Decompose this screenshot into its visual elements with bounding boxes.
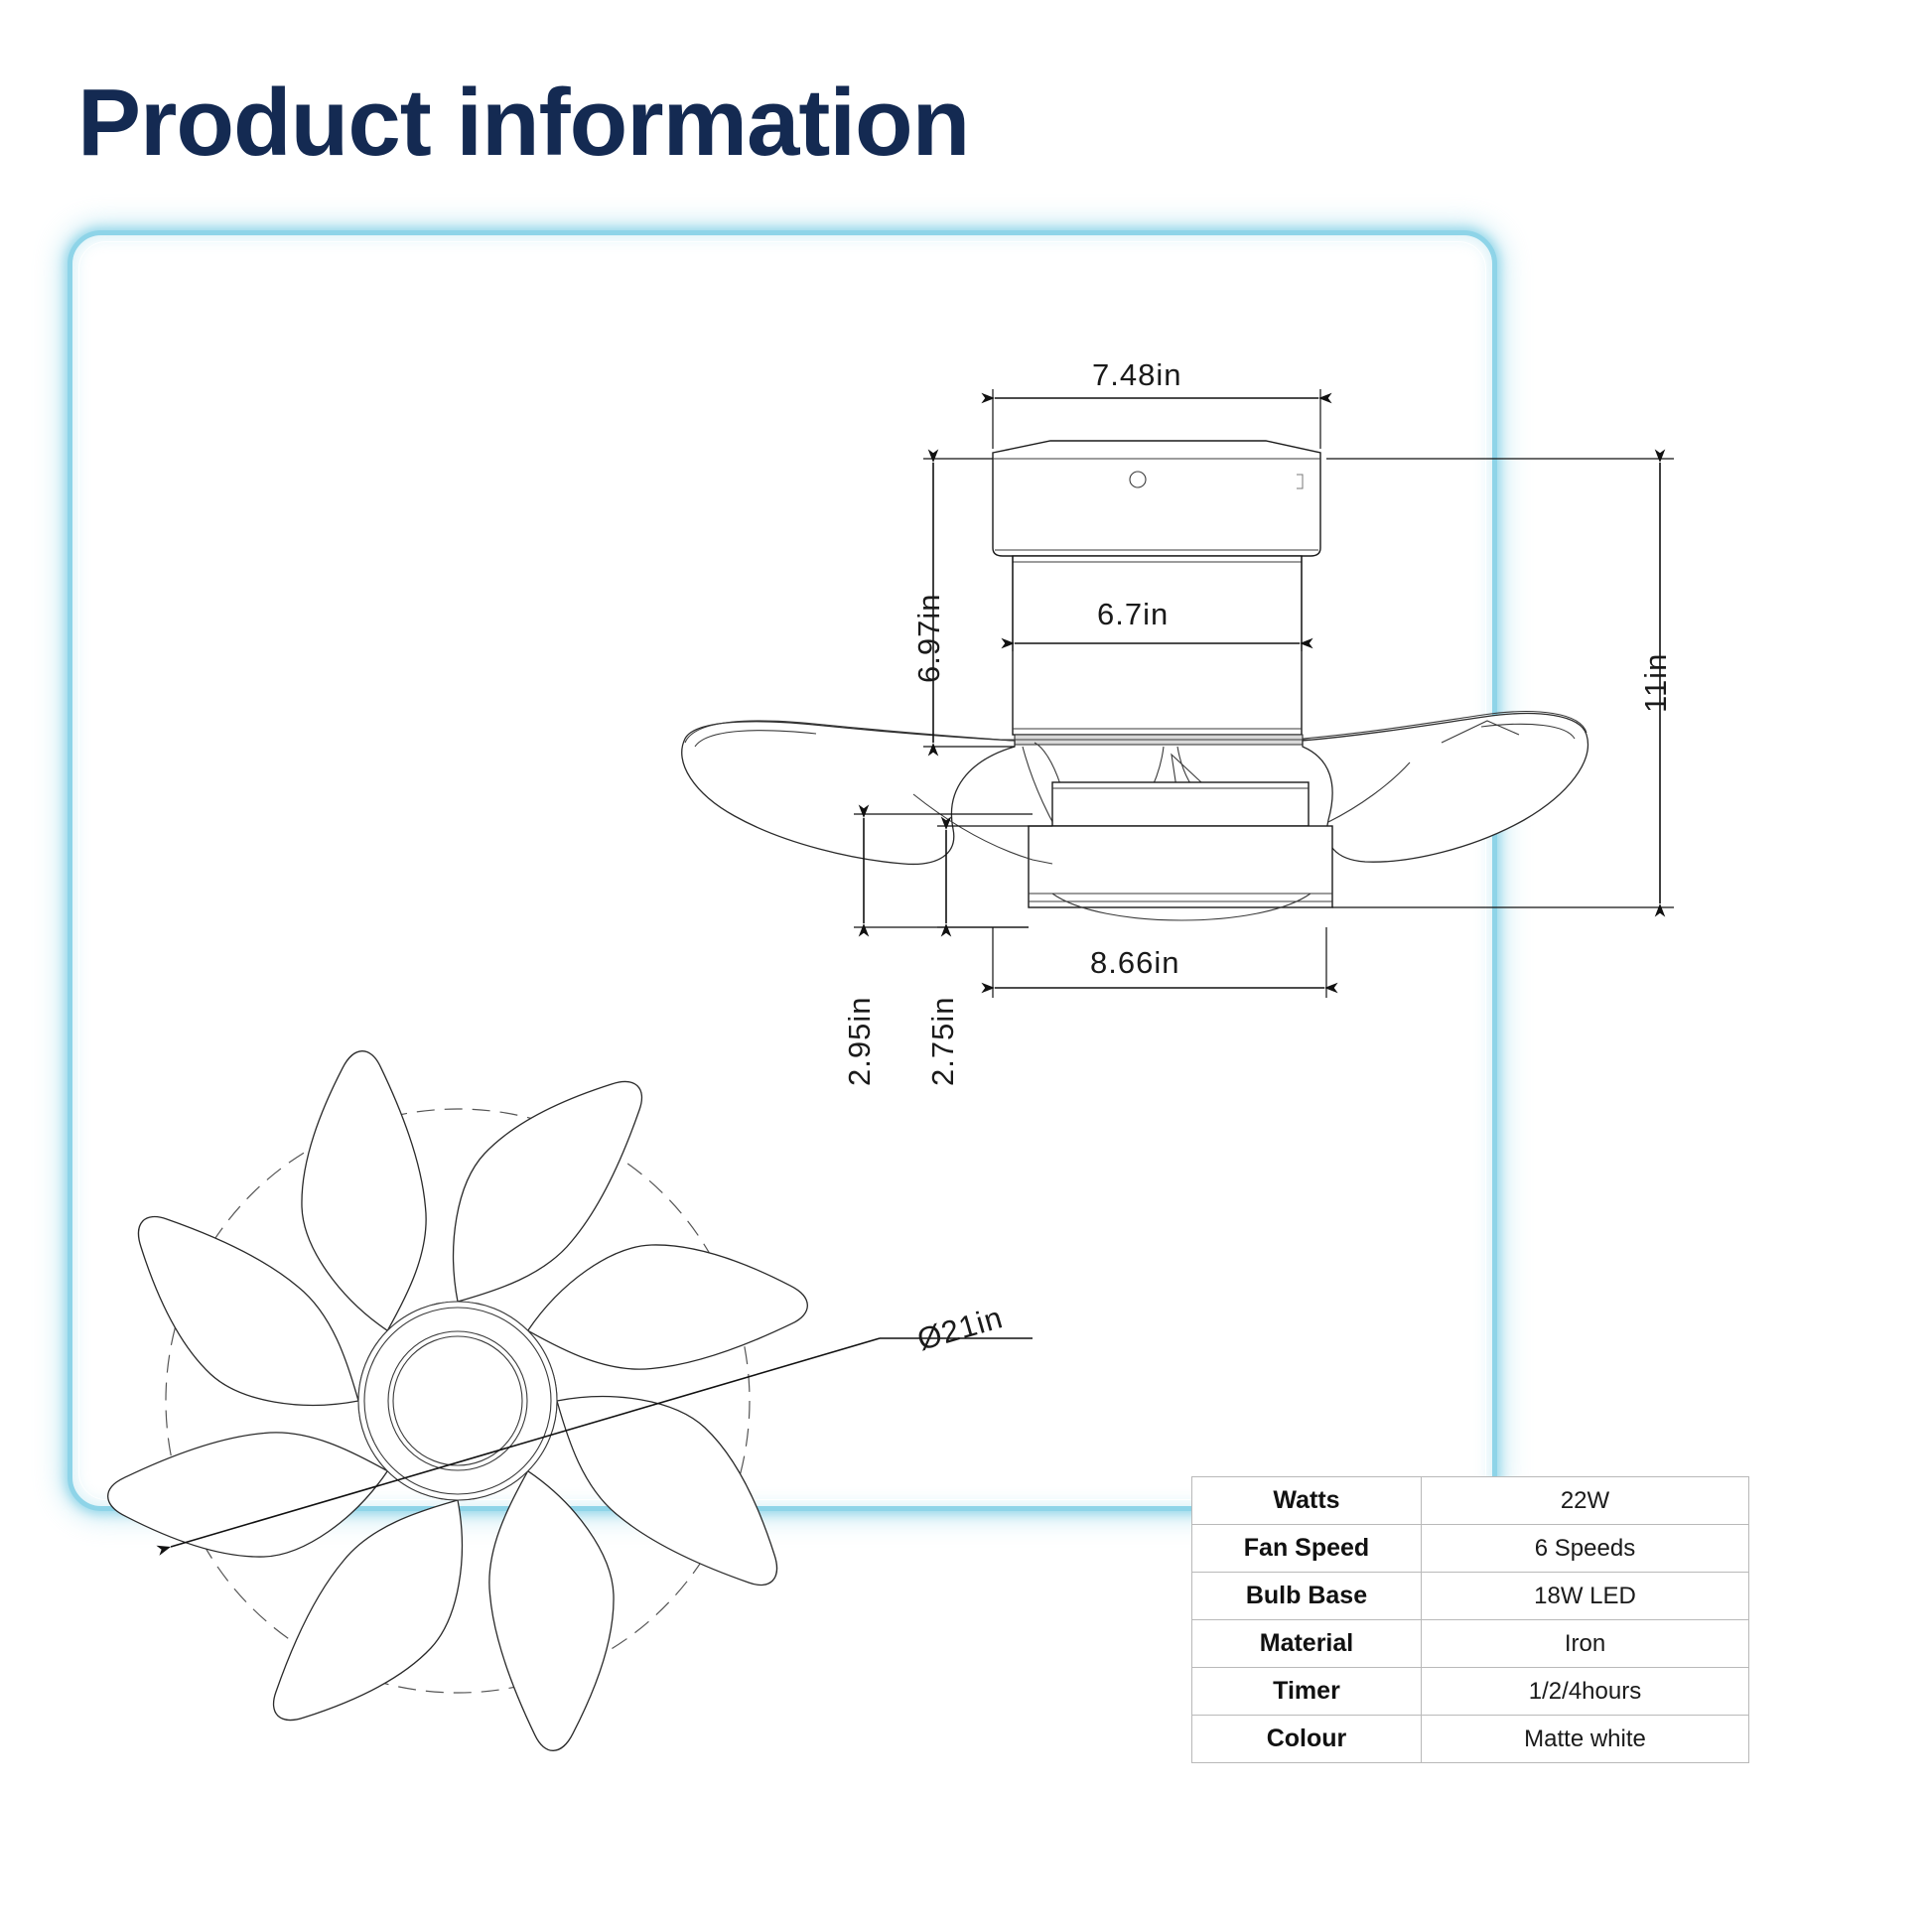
side-view-blade-right — [1303, 712, 1587, 863]
side-view-light-housing — [1029, 782, 1332, 920]
dimension-label-body-width: 6.7in — [1097, 597, 1169, 632]
spec-value: Iron — [1422, 1620, 1749, 1668]
table-row: Watts 22W — [1192, 1477, 1749, 1525]
dimension-label-overall-height: 11in — [1638, 653, 1674, 713]
spec-key: Colour — [1192, 1716, 1422, 1763]
dimension-canopy-width — [993, 389, 1320, 449]
dimension-label-canopy-width: 7.48in — [1092, 357, 1181, 393]
spec-value: 18W LED — [1422, 1573, 1749, 1620]
dimension-label-light-width: 8.66in — [1090, 945, 1179, 981]
spec-key: Timer — [1192, 1668, 1422, 1716]
table-row: Colour Matte white — [1192, 1716, 1749, 1763]
spec-key: Bulb Base — [1192, 1573, 1422, 1620]
dimension-label-blade-drop: 2.95in — [842, 997, 878, 1086]
side-view-motor-body — [1013, 556, 1302, 735]
spec-value: 6 Speeds — [1422, 1525, 1749, 1573]
dimension-label-light-height: 2.75in — [925, 997, 961, 1086]
side-view-canopy — [993, 441, 1320, 556]
dimension-label-body-height: 6.97in — [911, 594, 947, 683]
table-row: Timer 1/2/4hours — [1192, 1668, 1749, 1716]
spec-key: Watts — [1192, 1477, 1422, 1525]
spec-key: Material — [1192, 1620, 1422, 1668]
plan-view-fan — [102, 1045, 814, 1757]
spec-value: 1/2/4hours — [1422, 1668, 1749, 1716]
spec-value: 22W — [1422, 1477, 1749, 1525]
spec-key: Fan Speed — [1192, 1525, 1422, 1573]
table-row: Bulb Base 18W LED — [1192, 1573, 1749, 1620]
table-row: Fan Speed 6 Speeds — [1192, 1525, 1749, 1573]
product-specification-table: Watts 22W Fan Speed 6 Speeds Bulb Base 1… — [1191, 1476, 1749, 1763]
table-row: Material Iron — [1192, 1620, 1749, 1668]
spec-value: Matte white — [1422, 1716, 1749, 1763]
side-view-blade-left — [682, 721, 1015, 865]
